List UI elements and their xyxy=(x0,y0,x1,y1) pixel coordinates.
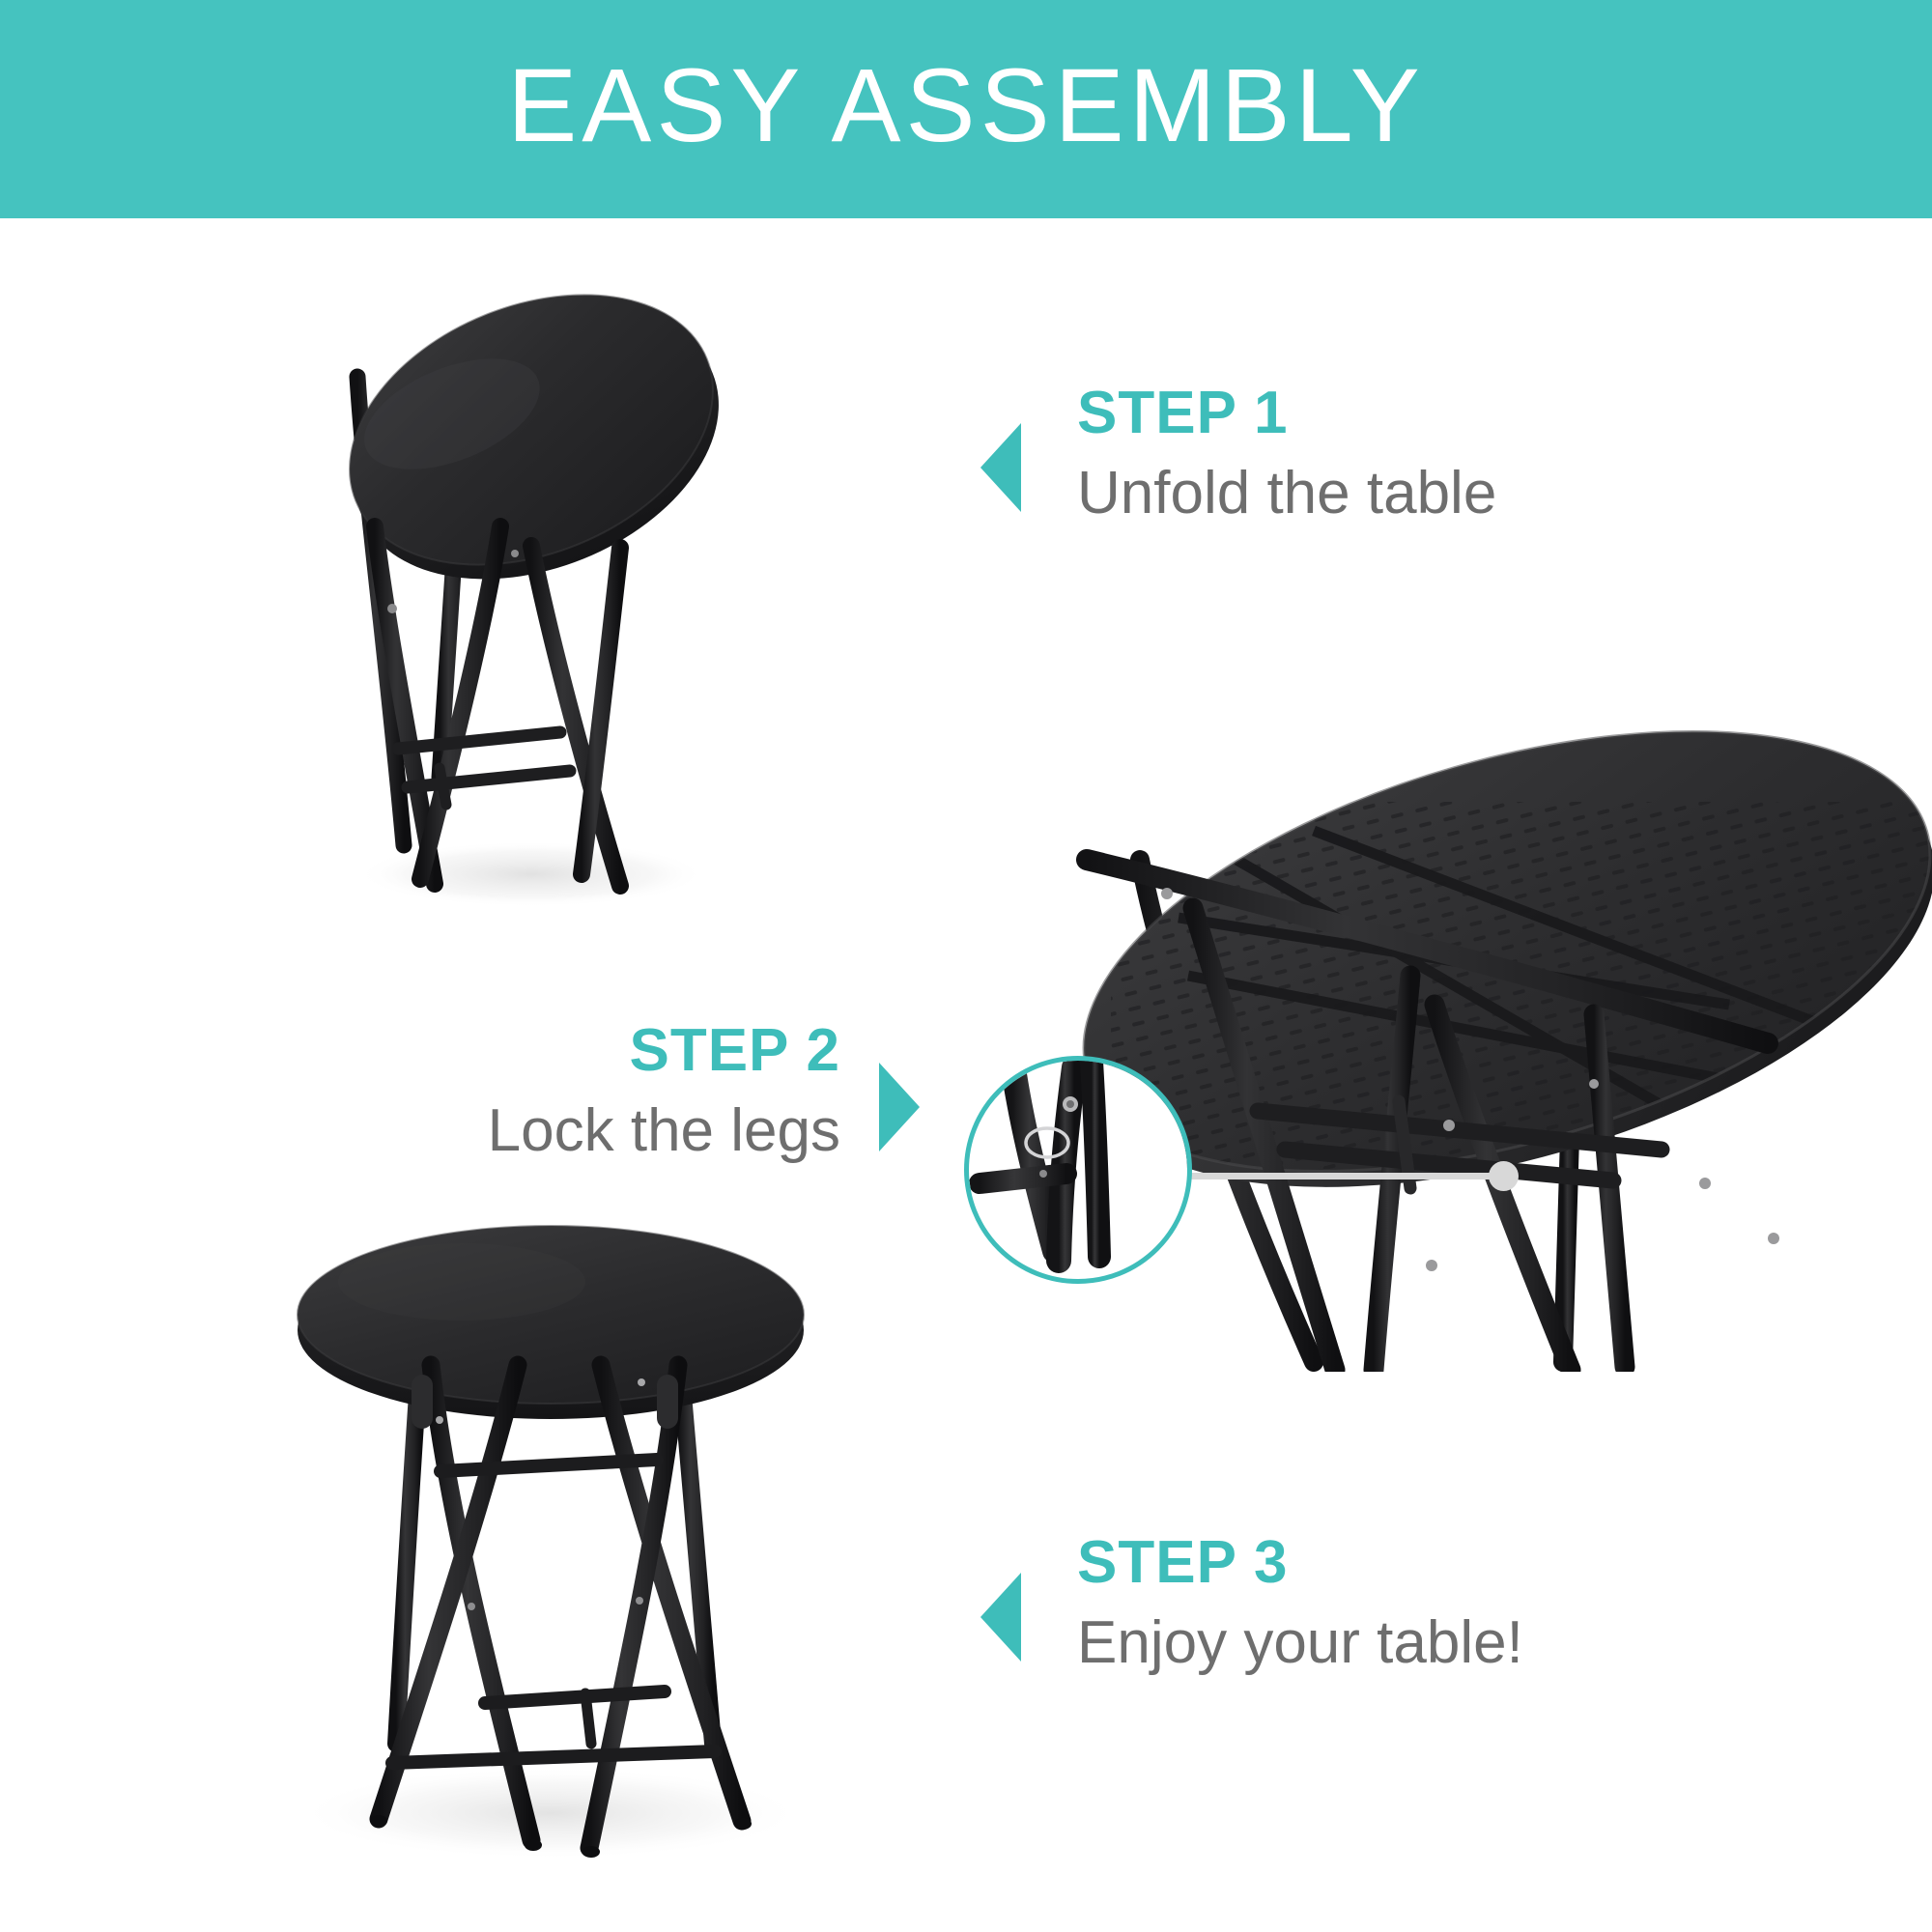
infographic-canvas: EASY ASSEMBLY xyxy=(0,0,1932,1932)
step-2-arrow-icon xyxy=(879,1063,920,1151)
step-2-title: STEP 2 xyxy=(406,1019,840,1082)
step-1-description: Unfold the table xyxy=(1077,458,1496,529)
step-3-text-block: STEP 3 Enjoy your table! xyxy=(1077,1531,1523,1679)
step-2-text-block: STEP 2 Lock the legs xyxy=(406,1019,840,1167)
step-1-title: STEP 1 xyxy=(1077,382,1496,444)
step-3-description: Enjoy your table! xyxy=(1077,1607,1523,1679)
step-1-text-block: STEP 1 Unfold the table xyxy=(1077,382,1496,529)
step-3-arrow-icon xyxy=(980,1573,1021,1662)
step-2-description: Lock the legs xyxy=(406,1095,840,1167)
callout-leader-line xyxy=(1190,1173,1509,1179)
step-3-product-image xyxy=(241,1222,840,1879)
header-banner: EASY ASSEMBLY xyxy=(0,0,1932,218)
page-title: EASY ASSEMBLY xyxy=(507,53,1424,157)
step-1-product-image xyxy=(241,208,782,923)
step-3-title: STEP 3 xyxy=(1077,1531,1523,1594)
step-1-arrow-icon xyxy=(980,423,1021,512)
callout-circle-ring xyxy=(964,1056,1192,1284)
callout-leader-dot xyxy=(1489,1161,1519,1191)
